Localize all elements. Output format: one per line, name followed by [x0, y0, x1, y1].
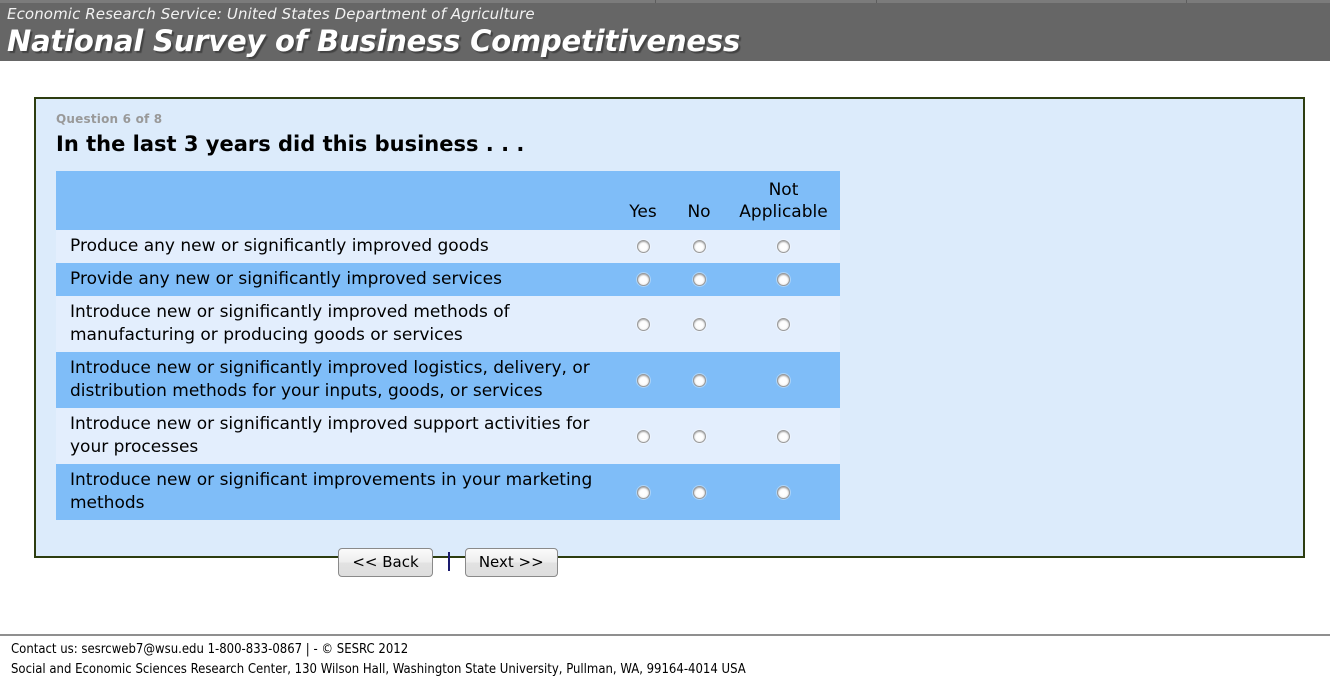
question-text: In the last 3 years did this business . … — [56, 132, 1303, 156]
radio-no[interactable] — [693, 273, 706, 286]
table-row: Introduce new or significantly improved … — [56, 408, 840, 464]
table-row: Introduce new or significant improvement… — [56, 464, 840, 520]
navigation-controls: << Back Next >> — [56, 548, 840, 589]
radio-not-applicable[interactable] — [777, 273, 790, 286]
radio-cell-yes[interactable] — [615, 464, 671, 520]
radio-cell-yes[interactable] — [615, 296, 671, 352]
radio-not-applicable[interactable] — [777, 430, 790, 443]
response-matrix: Yes No Not Applicable Produce any new or… — [56, 171, 840, 520]
radio-cell-yes[interactable] — [615, 408, 671, 464]
radio-cell-no[interactable] — [671, 464, 727, 520]
agency-name: Economic Research Service: United States… — [7, 4, 1330, 25]
radio-not-applicable[interactable] — [777, 318, 790, 331]
radio-yes[interactable] — [637, 273, 650, 286]
button-separator — [448, 552, 450, 571]
footer-contact-line: Contact us: sesrcweb7@wsu.edu 1-800-833-… — [11, 640, 1311, 660]
radio-cell-not-applicable[interactable] — [727, 352, 840, 408]
matrix-header-row: Yes No Not Applicable — [56, 171, 840, 230]
table-row: Introduce new or significantly improved … — [56, 296, 840, 352]
radio-yes[interactable] — [637, 374, 650, 387]
footer-address-line: Social and Economic Sciences Research Ce… — [11, 660, 1311, 680]
radio-yes[interactable] — [637, 430, 650, 443]
footer-divider — [0, 634, 1330, 636]
radio-no[interactable] — [693, 374, 706, 387]
table-row: Introduce new or significantly improved … — [56, 352, 840, 408]
next-button[interactable]: Next >> — [465, 548, 558, 577]
radio-no[interactable] — [693, 486, 706, 499]
table-row: Produce any new or significantly improve… — [56, 230, 840, 263]
row-label: Produce any new or significantly improve… — [56, 230, 615, 263]
row-label: Introduce new or significant improvement… — [56, 464, 615, 520]
radio-not-applicable[interactable] — [777, 240, 790, 253]
survey-panel: Question 6 of 8 In the last 3 years did … — [34, 97, 1305, 558]
question-progress: Question 6 of 8 — [56, 112, 1303, 126]
site-footer: Contact us: sesrcweb7@wsu.edu 1-800-833-… — [11, 640, 1311, 680]
site-header: Economic Research Service: United States… — [0, 3, 1330, 61]
row-label: Provide any new or significantly improve… — [56, 263, 615, 296]
radio-no[interactable] — [693, 240, 706, 253]
radio-yes[interactable] — [637, 240, 650, 253]
radio-cell-no[interactable] — [671, 408, 727, 464]
radio-cell-not-applicable[interactable] — [727, 296, 840, 352]
radio-cell-no[interactable] — [671, 230, 727, 263]
column-header-no: No — [671, 171, 727, 230]
radio-cell-no[interactable] — [671, 296, 727, 352]
radio-cell-yes[interactable] — [615, 352, 671, 408]
radio-cell-not-applicable[interactable] — [727, 230, 840, 263]
radio-cell-no[interactable] — [671, 352, 727, 408]
column-header-na-line1: Not — [769, 180, 799, 200]
radio-no[interactable] — [693, 318, 706, 331]
radio-yes[interactable] — [637, 486, 650, 499]
radio-cell-no[interactable] — [671, 263, 727, 296]
radio-cell-yes[interactable] — [615, 263, 671, 296]
page-title: National Survey of Business Competitiven… — [7, 25, 1330, 58]
table-row: Provide any new or significantly improve… — [56, 263, 840, 296]
column-header-na-line2: Applicable — [739, 202, 827, 222]
column-header-not-applicable: Not Applicable — [727, 171, 840, 230]
row-label: Introduce new or significantly improved … — [56, 296, 615, 352]
radio-cell-not-applicable[interactable] — [727, 408, 840, 464]
column-header-yes: Yes — [615, 171, 671, 230]
radio-not-applicable[interactable] — [777, 486, 790, 499]
row-label: Introduce new or significantly improved … — [56, 408, 615, 464]
radio-cell-not-applicable[interactable] — [727, 263, 840, 296]
radio-yes[interactable] — [637, 318, 650, 331]
row-label: Introduce new or significantly improved … — [56, 352, 615, 408]
radio-cell-yes[interactable] — [615, 230, 671, 263]
radio-cell-not-applicable[interactable] — [727, 464, 840, 520]
radio-no[interactable] — [693, 430, 706, 443]
column-header-statement — [56, 171, 615, 230]
back-button[interactable]: << Back — [338, 548, 432, 577]
radio-not-applicable[interactable] — [777, 374, 790, 387]
